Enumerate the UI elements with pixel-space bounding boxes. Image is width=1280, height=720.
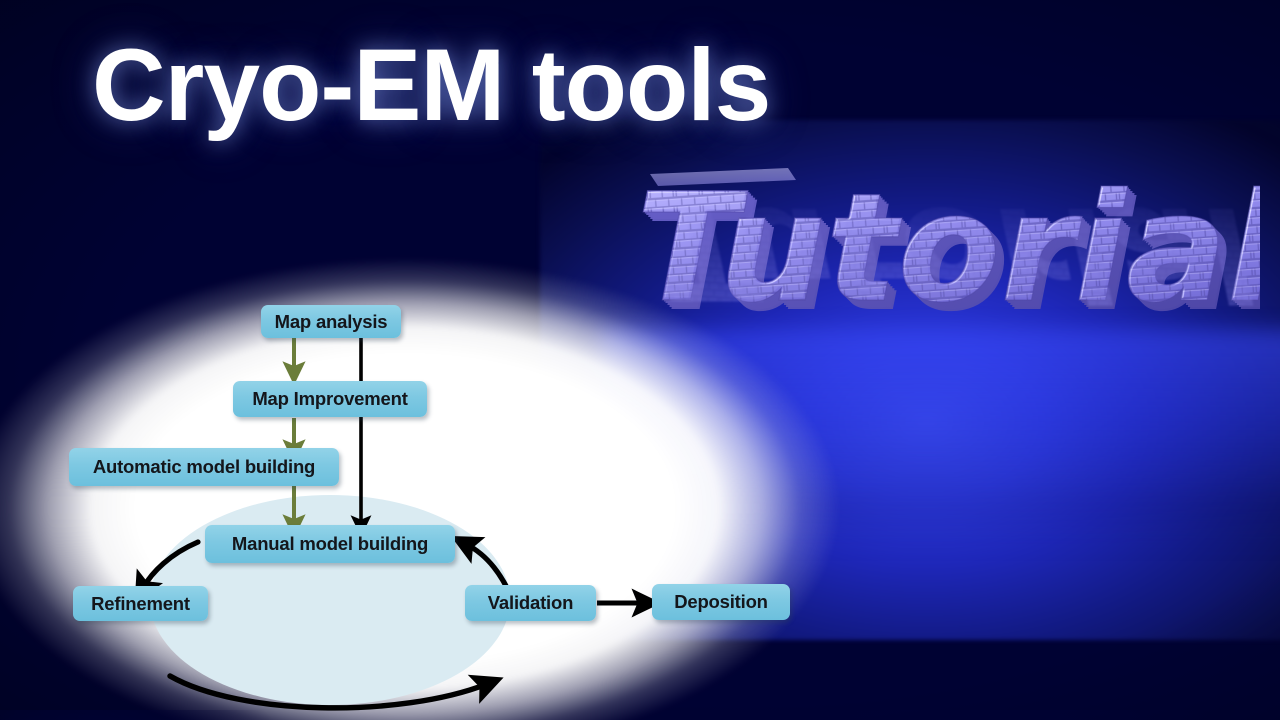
node-map-improvement[interactable]: Map Improvement bbox=[233, 381, 427, 417]
node-label: Automatic model building bbox=[93, 456, 315, 478]
node-label: Map analysis bbox=[275, 311, 388, 333]
node-label: Deposition bbox=[674, 591, 768, 613]
node-refinement[interactable]: Refinement bbox=[73, 586, 208, 621]
node-label: Validation bbox=[488, 592, 573, 614]
node-automatic-model-building[interactable]: Automatic model building bbox=[69, 448, 339, 486]
slide-canvas: Tutorial Tutorial Tutorial Tutorial Tuto… bbox=[0, 0, 1280, 720]
node-validation[interactable]: Validation bbox=[465, 585, 596, 621]
node-manual-model-building[interactable]: Manual model building bbox=[205, 525, 455, 563]
node-map-analysis[interactable]: Map analysis bbox=[261, 305, 401, 338]
flowchart: Map analysis Map Improvement Automatic m… bbox=[0, 280, 860, 720]
node-label: Refinement bbox=[91, 593, 190, 615]
node-label: Map Improvement bbox=[252, 388, 407, 410]
node-label: Manual model building bbox=[232, 533, 428, 555]
slide-title: Cryo-EM tools bbox=[92, 32, 770, 139]
node-deposition[interactable]: Deposition bbox=[652, 584, 790, 620]
flowchart-connectors bbox=[0, 280, 860, 720]
